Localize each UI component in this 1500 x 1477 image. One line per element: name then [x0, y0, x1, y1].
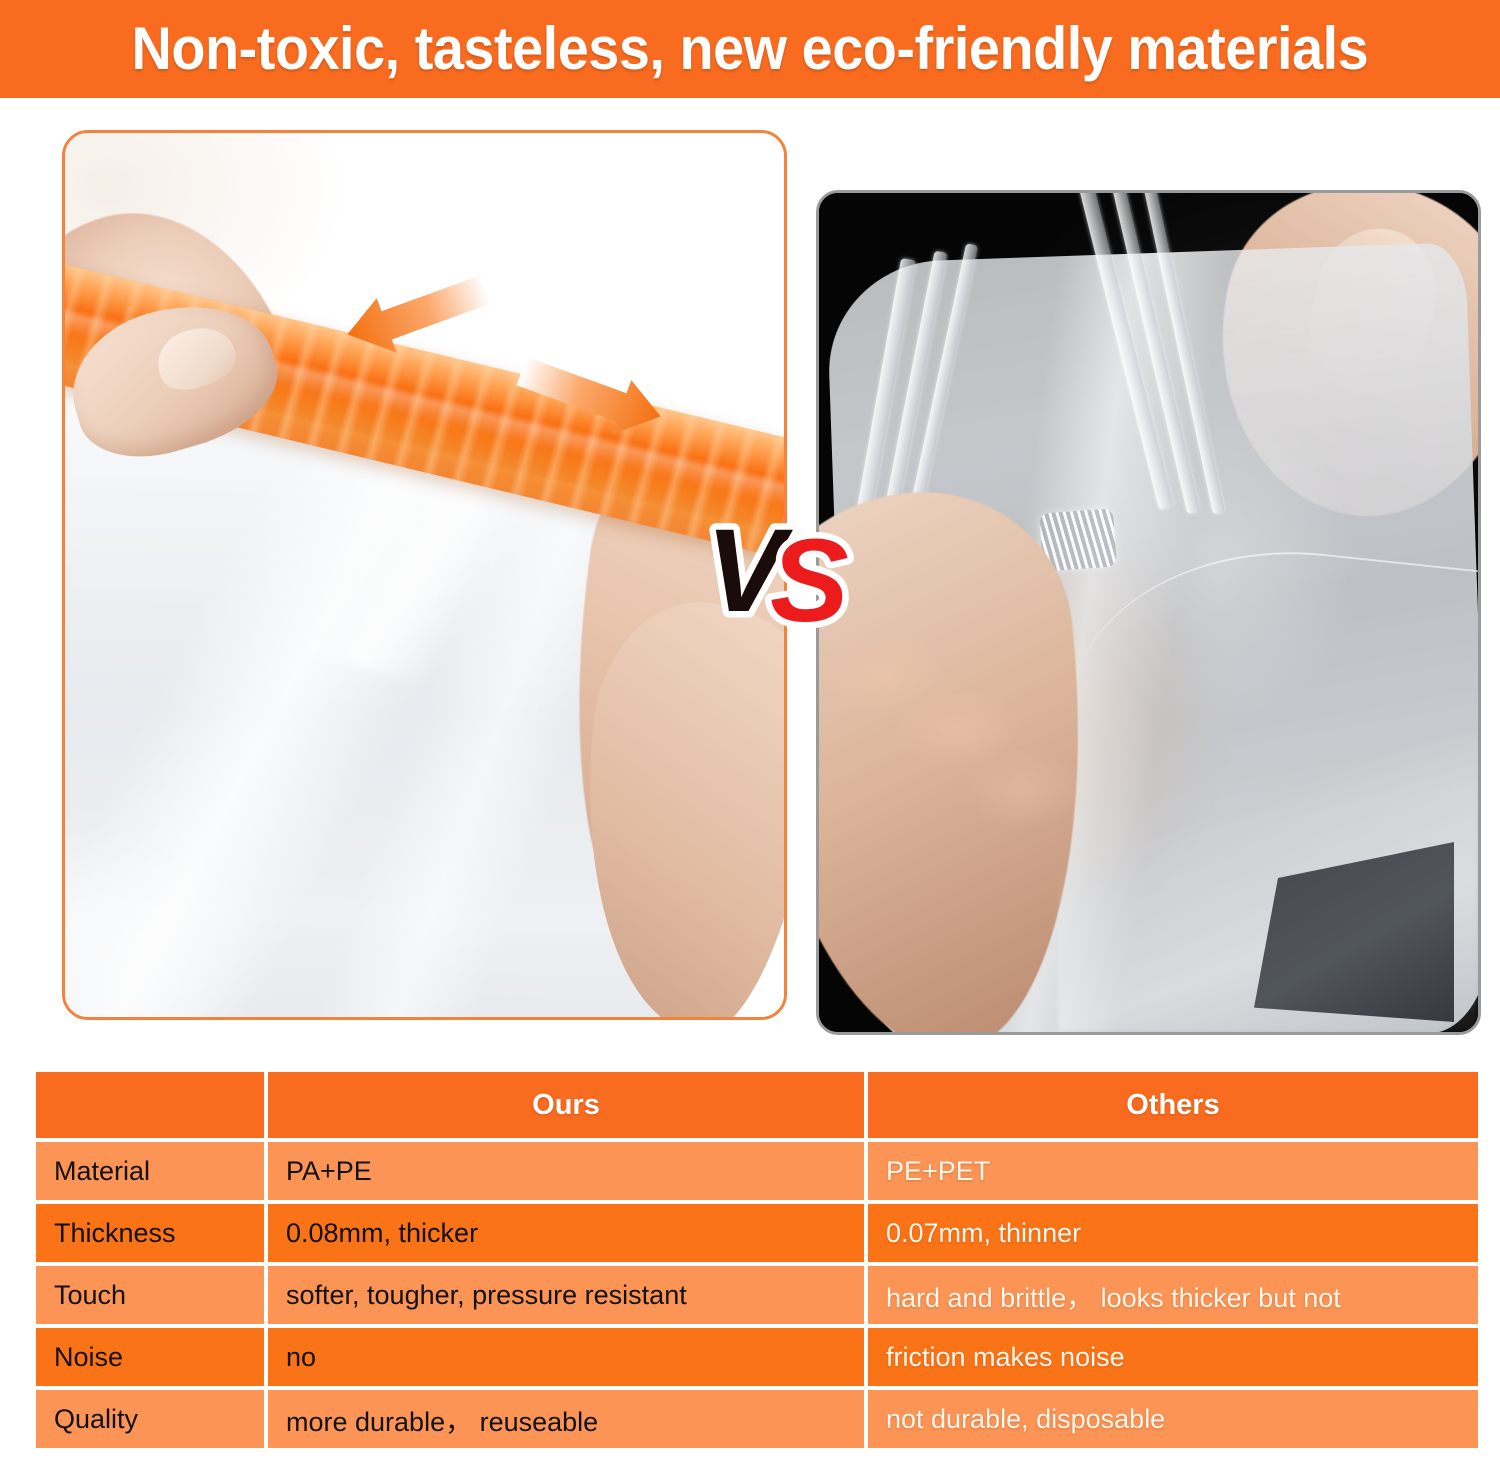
- row-others-thickness: 0.07mm, thinner: [868, 1204, 1478, 1262]
- ours-product-photo: [62, 130, 787, 1020]
- row-ours-material: PA+PE: [268, 1142, 864, 1200]
- row-ours-thickness: 0.08mm, thicker: [268, 1204, 864, 1262]
- comparison-table: Ours Others Material PA+PE PE+PET Thickn…: [32, 1068, 1482, 1452]
- table-header-blank: [36, 1072, 264, 1138]
- row-others-material: PE+PET: [868, 1142, 1478, 1200]
- table-header-others: Others: [868, 1072, 1478, 1138]
- table-row: Touch softer, tougher, pressure resistan…: [36, 1266, 1478, 1324]
- header-banner: Non-toxic, tasteless, new eco-friendly m…: [0, 0, 1500, 98]
- table-row: Quality more durable， reuseable not dura…: [36, 1390, 1478, 1448]
- others-knuckles: [827, 613, 1077, 913]
- table-row: Material PA+PE PE+PET: [36, 1142, 1478, 1200]
- vs-badge: V V S S: [700, 503, 880, 638]
- table-row: Thickness 0.08mm, thicker 0.07mm, thinne…: [36, 1204, 1478, 1262]
- row-attribute-quality: Quality: [36, 1390, 264, 1448]
- table-header-row: Ours Others: [36, 1072, 1478, 1138]
- row-ours-quality: more durable， reuseable: [268, 1390, 864, 1448]
- row-ours-noise: no: [268, 1328, 864, 1386]
- row-attribute-thickness: Thickness: [36, 1204, 264, 1262]
- row-others-quality: not durable, disposable: [868, 1390, 1478, 1448]
- row-ours-touch: softer, tougher, pressure resistant: [268, 1266, 864, 1324]
- row-attribute-noise: Noise: [36, 1328, 264, 1386]
- table-header-ours: Ours: [268, 1072, 864, 1138]
- row-others-noise: friction makes noise: [868, 1328, 1478, 1386]
- table-row: Noise no friction makes noise: [36, 1328, 1478, 1386]
- svg-text:S: S: [770, 515, 849, 638]
- page-title: Non-toxic, tasteless, new eco-friendly m…: [132, 19, 1369, 79]
- row-attribute-touch: Touch: [36, 1266, 264, 1324]
- photo-comparison-area: V V S S: [0, 98, 1500, 1048]
- row-attribute-material: Material: [36, 1142, 264, 1200]
- row-others-touch: hard and brittle， looks thicker but not: [868, 1266, 1478, 1324]
- others-product-photo: [816, 190, 1481, 1035]
